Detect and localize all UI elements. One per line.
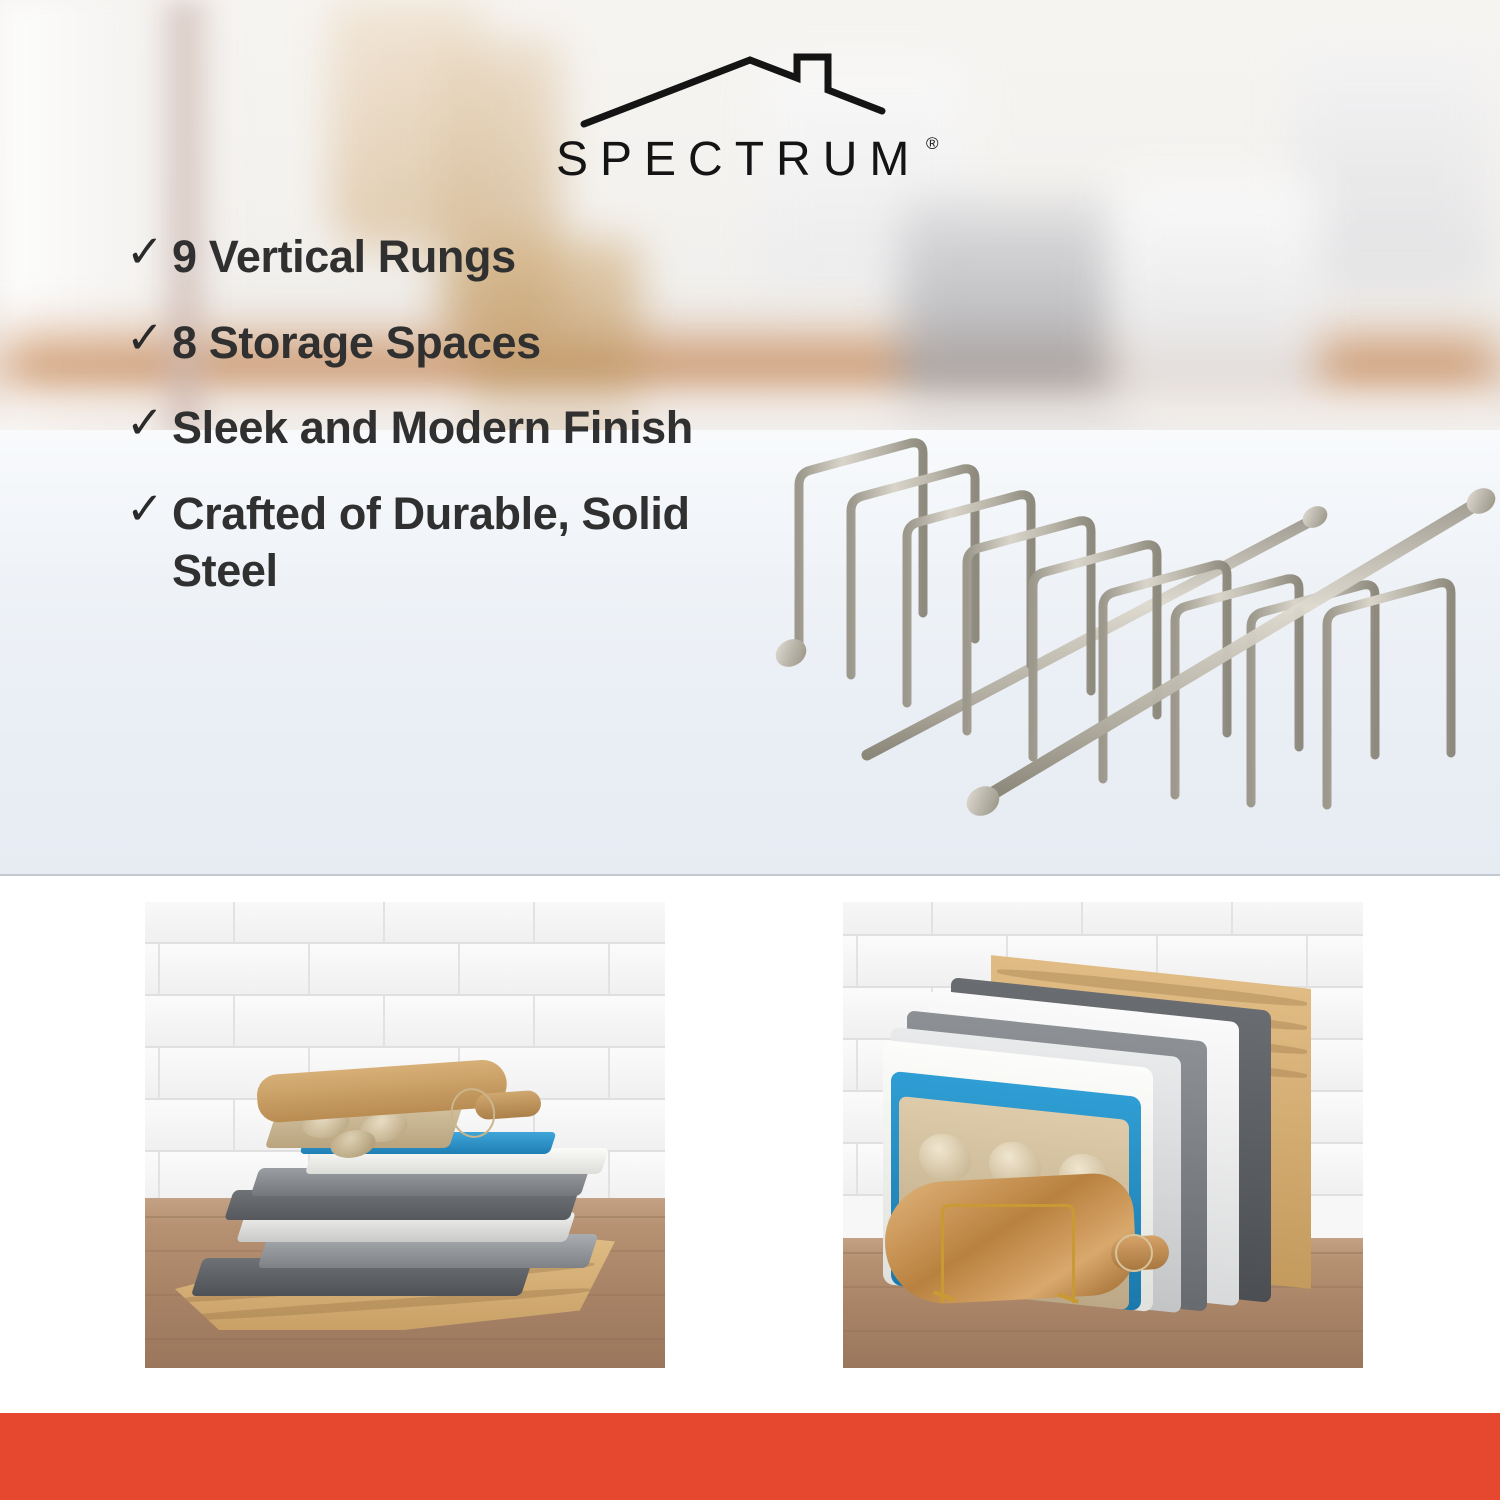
check-icon: ✓ (126, 399, 172, 448)
feature-label: 9 Vertical Rungs (172, 228, 516, 286)
brand-name: SPECTRUM (556, 132, 921, 187)
feature-label: Crafted of Durable, Solid Steel (172, 485, 766, 600)
hero-bottom-divider (0, 874, 1500, 876)
gallery-photo-rack-in-use (843, 902, 1363, 1368)
feature-item: ✓ Sleek and Modern Finish (126, 399, 766, 457)
feature-item: ✓ 9 Vertical Rungs (126, 228, 766, 286)
board-hanging-loop (1115, 1234, 1153, 1272)
feature-label: 8 Storage Spaces (172, 314, 541, 372)
registered-trademark-icon: ® (926, 134, 939, 154)
brand-logo: SPECTRUM ® (552, 44, 952, 184)
blurred-jar (1290, 40, 1490, 290)
foot-cap (771, 634, 812, 673)
check-icon: ✓ (126, 314, 172, 363)
feature-label: Sleek and Modern Finish (172, 399, 693, 457)
check-icon: ✓ (126, 228, 172, 277)
gallery-photo-stacked-bakeware (145, 902, 665, 1368)
footer-accent-bar (0, 1413, 1500, 1500)
feature-list: ✓ 9 Vertical Rungs ✓ 8 Storage Spaces ✓ … (126, 228, 766, 628)
house-roof-icon (552, 44, 952, 134)
product-rack-image (755, 255, 1500, 830)
check-icon: ✓ (126, 485, 172, 534)
feature-item: ✓ Crafted of Durable, Solid Steel (126, 485, 766, 600)
feature-item: ✓ 8 Storage Spaces (126, 314, 766, 372)
hero-panel: SPECTRUM ® ✓ 9 Vertical Rungs ✓ 8 Storag… (0, 0, 1500, 876)
rack-rung-gold (941, 1204, 1075, 1303)
